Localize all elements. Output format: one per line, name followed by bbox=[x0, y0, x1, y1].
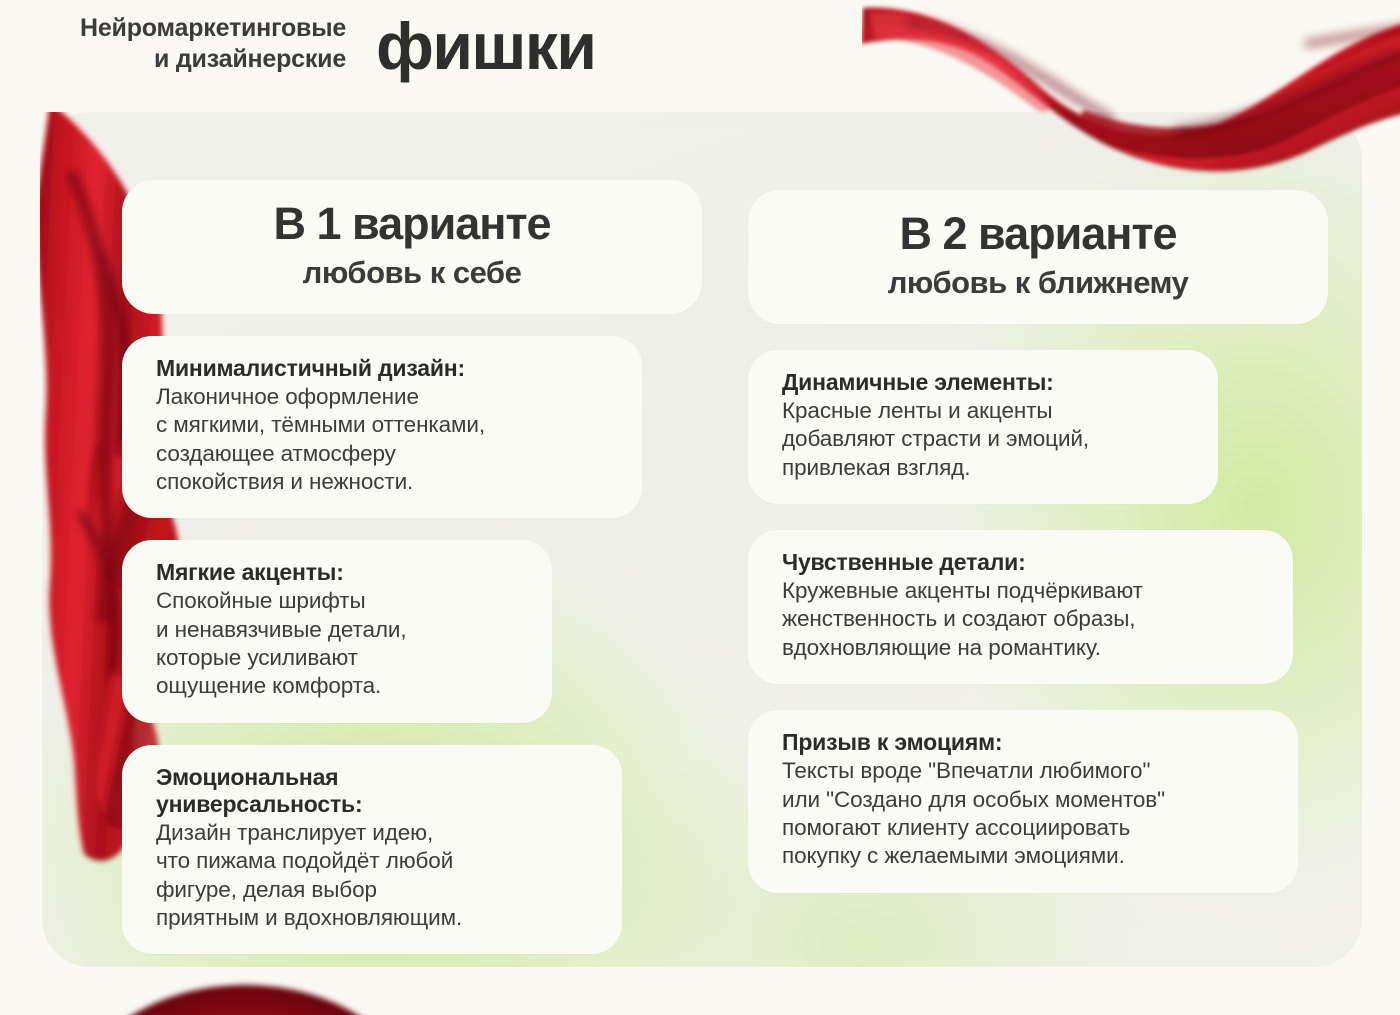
card-body: Дизайн транслирует идею, что пижама подо… bbox=[156, 819, 596, 932]
column-2-heading: В 2 варианте любовь к ближнему bbox=[748, 190, 1328, 324]
card-body: Красные ленты и акценты добавляют страст… bbox=[782, 397, 1192, 482]
column-variant-2: В 2 варианте любовь к ближнему Динамичны… bbox=[748, 190, 1328, 967]
card-body: Спокойные шрифты и ненавязчивые детали, … bbox=[156, 587, 526, 700]
column-2-heading-title: В 2 варианте bbox=[766, 210, 1310, 258]
columns-container: В 1 варианте любовь к себе Минималистичн… bbox=[42, 112, 1362, 967]
card-sensual-details: Чувственные детали: Кружевные акценты по… bbox=[748, 530, 1293, 684]
header-subtitle: Нейромаркетинговые и дизайнерские bbox=[80, 13, 346, 80]
card-title: Минималистичный дизайн: bbox=[156, 355, 616, 382]
column-variant-1: В 1 варианте любовь к себе Минималистичн… bbox=[122, 180, 702, 967]
red-blob-bottom bbox=[75, 985, 415, 1015]
card-title: Чувственные детали: bbox=[782, 549, 1267, 576]
card-emotional-universality: Эмоциональная универсальность: Дизайн тр… bbox=[122, 745, 622, 955]
page-title: фишки bbox=[376, 13, 595, 79]
card-title: Эмоциональная универсальность: bbox=[156, 764, 596, 818]
card-body: Тексты вроде "Впечатли любимого" или "Со… bbox=[782, 757, 1272, 870]
column-2-heading-subtitle: любовь к ближнему bbox=[766, 266, 1310, 300]
infographic-canvas: Нейромаркетинговые и дизайнерские фишки … bbox=[0, 0, 1400, 1015]
card-body: Кружевные акценты подчёркивают женственн… bbox=[782, 577, 1267, 662]
header-card: Нейромаркетинговые и дизайнерские фишки bbox=[0, 0, 862, 102]
card-soft-accents: Мягкие акценты: Спокойные шрифты и ненав… bbox=[122, 540, 552, 723]
card-title: Призыв к эмоциям: bbox=[782, 729, 1272, 756]
card-body: Лаконичное оформление с мягкими, тёмными… bbox=[156, 383, 616, 496]
card-call-to-emotions: Призыв к эмоциям: Тексты вроде "Впечатли… bbox=[748, 710, 1298, 893]
column-1-heading-subtitle: любовь к себе bbox=[140, 256, 684, 290]
card-title: Динамичные элементы: bbox=[782, 369, 1192, 396]
card-title: Мягкие акценты: bbox=[156, 559, 526, 586]
column-1-heading-title: В 1 варианте bbox=[140, 200, 684, 248]
card-dynamic-elements: Динамичные элементы: Красные ленты и акц… bbox=[748, 350, 1218, 504]
card-minimalist-design: Минималистичный дизайн: Лаконичное оформ… bbox=[122, 336, 642, 519]
column-1-heading: В 1 варианте любовь к себе bbox=[122, 180, 702, 314]
